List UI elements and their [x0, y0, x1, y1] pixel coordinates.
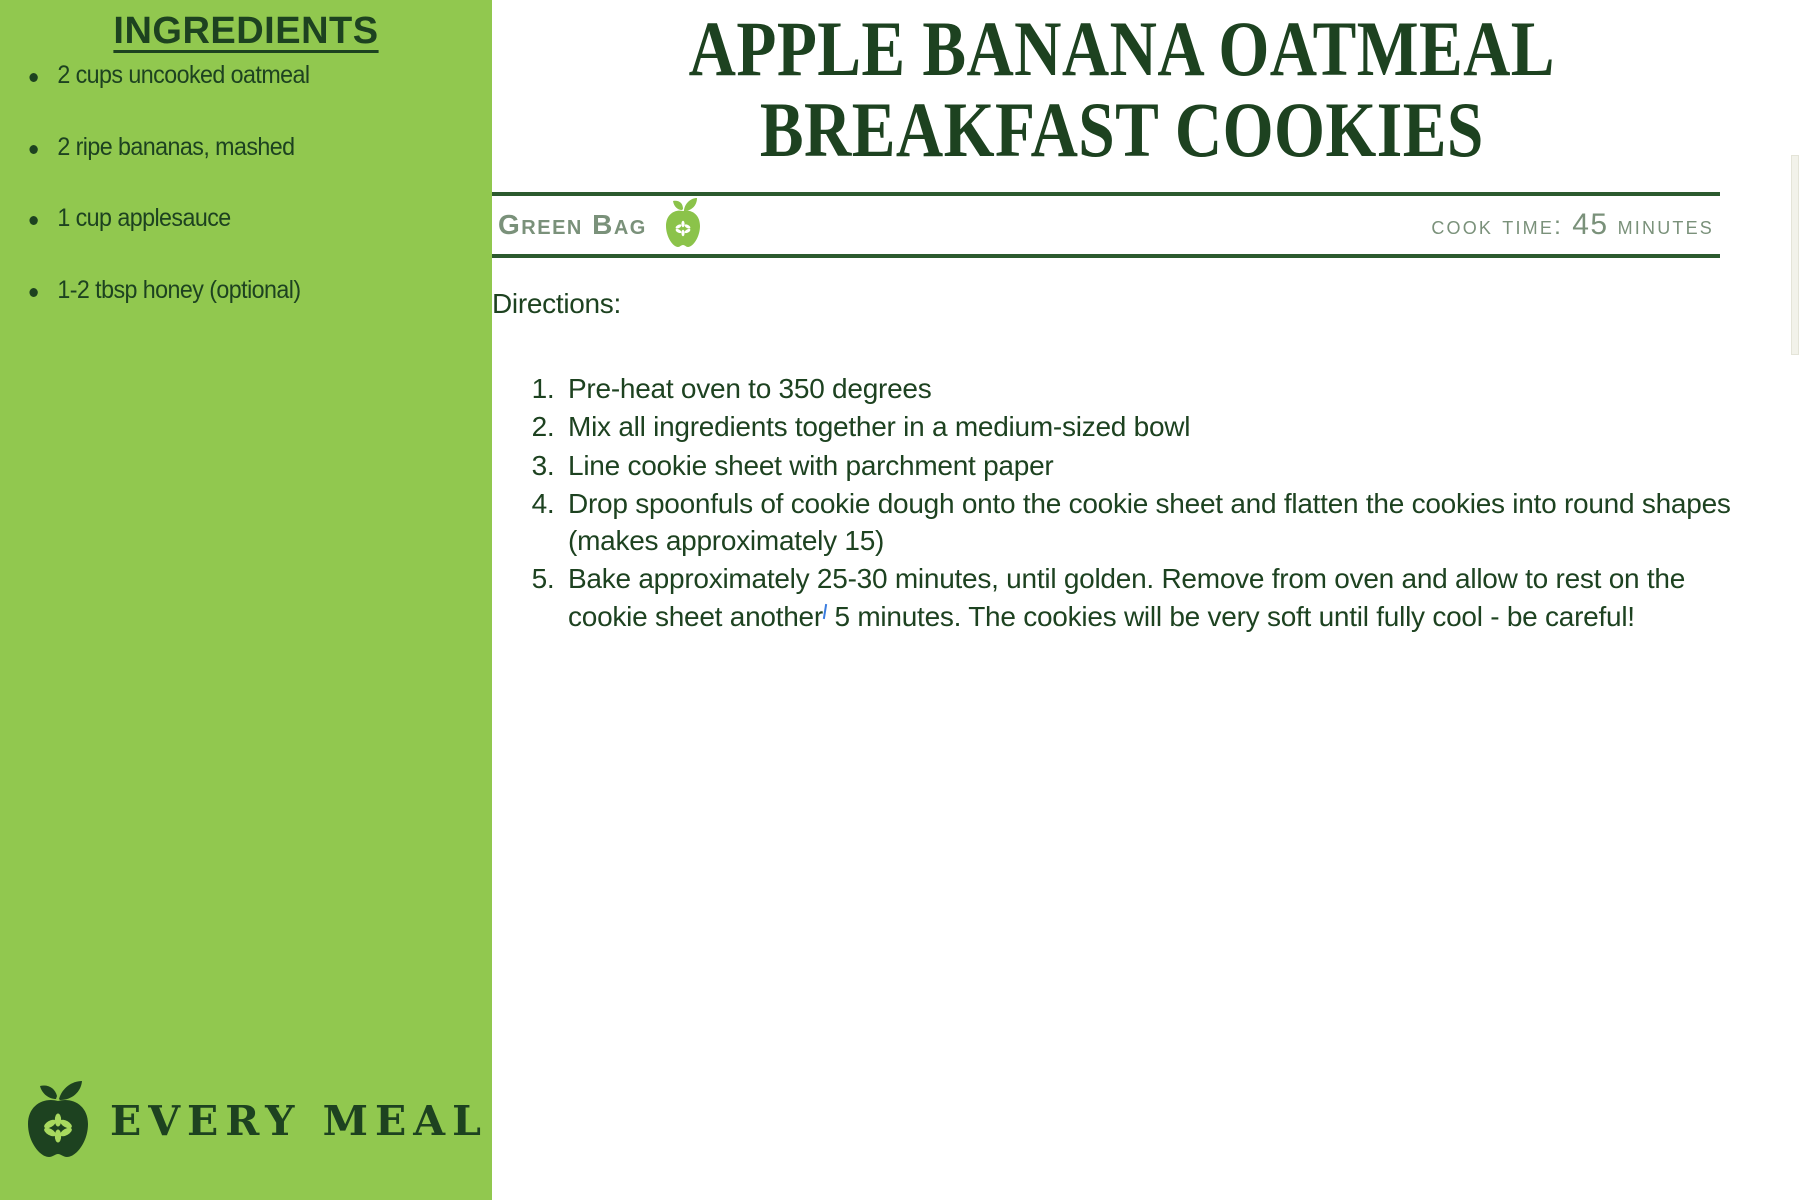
directions-label: Directions: — [462, 288, 1760, 320]
list-item: 2 cups uncooked oatmeal — [22, 61, 442, 91]
list-item: Drop spoonfuls of cookie dough onto the … — [562, 485, 1760, 559]
cook-time-value: 45 — [1572, 208, 1608, 242]
directions-list: Pre-heat oven to 350 degrees Mix all ing… — [526, 370, 1760, 635]
list-item: Bake approximately 25-30 minutes, until … — [562, 560, 1760, 634]
recipe-card-page: INGREDIENTS 2 cups uncooked oatmeal 2 ri… — [0, 0, 1800, 1200]
ingredients-list: 2 cups uncooked oatmeal 2 ripe bananas, … — [0, 61, 492, 305]
meta-rule-bottom — [492, 254, 1720, 258]
brand-group: Green Bag — [498, 197, 703, 254]
brand-name: Green Bag — [498, 209, 647, 241]
ingredients-sidebar: INGREDIENTS 2 cups uncooked oatmeal 2 ri… — [0, 0, 492, 1200]
cook-time: Cook time: 45 minutes — [1431, 208, 1714, 242]
recipe-main: APPLE BANANA OATMEAL BREAKFAST COOKIES G… — [492, 0, 1800, 1200]
title-line-2: BREAKFAST COOKIES — [760, 86, 1484, 173]
logo-text: EVERY MEAL — [110, 1097, 488, 1145]
list-item: 2 ripe bananas, mashed — [22, 133, 442, 163]
title-line-1: APPLE BANANA OATMEAL — [689, 5, 1555, 92]
ingredients-heading: INGREDIENTS — [0, 10, 492, 53]
scrollbar-track[interactable] — [1790, 0, 1800, 1200]
list-item: Pre-heat oven to 350 degrees — [562, 370, 1760, 407]
step-5-text-b: 5 minutes. The cookies will be very soft… — [835, 601, 1635, 632]
apple-icon — [663, 197, 703, 254]
meta-block: Green Bag — [462, 192, 1760, 258]
text-cursor-caret — [823, 604, 827, 619]
scrollbar-thumb[interactable] — [1791, 155, 1799, 355]
list-item: Line cookie sheet with parchment paper — [562, 447, 1760, 484]
page-title: APPLE BANANA OATMEAL BREAKFAST COOKIES — [593, 8, 1658, 170]
list-item: 1-2 tbsp honey (optional) — [22, 276, 442, 306]
cook-time-unit: minutes — [1618, 212, 1714, 241]
every-meal-logo: EVERY MEAL — [22, 1077, 488, 1164]
list-item: Mix all ingredients together in a medium… — [562, 408, 1760, 445]
cook-time-label: Cook time: — [1431, 212, 1563, 241]
apple-logo-icon — [22, 1077, 94, 1164]
meta-row: Green Bag — [492, 196, 1720, 254]
list-item: 1 cup applesauce — [22, 204, 442, 234]
